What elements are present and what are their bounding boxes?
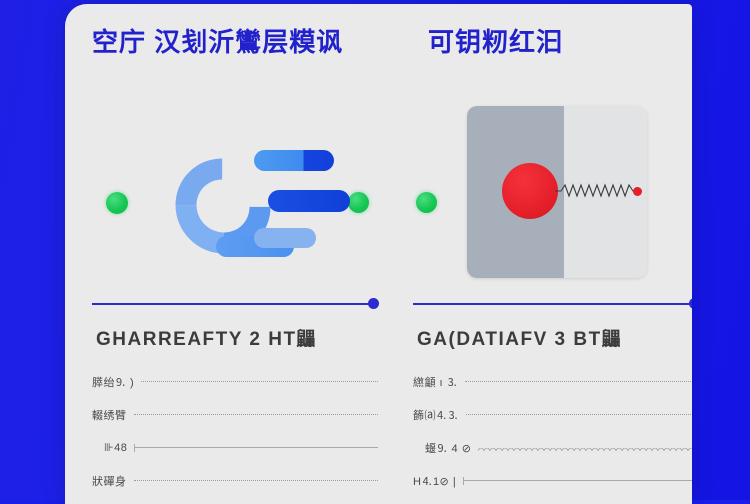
c-bars-logo: [176, 150, 356, 262]
leader-line: [465, 381, 692, 383]
list-item: 狀磾身: [92, 464, 378, 497]
logo-bar-2: [268, 190, 350, 212]
leader-line: [134, 414, 379, 416]
green-dot-3: [416, 192, 437, 213]
red-circle: [502, 163, 558, 219]
red-dot: [633, 187, 642, 196]
row-label: 膵绐⒐ ): [92, 374, 134, 390]
column-heading-left: GHARREAFTY 2 HT鼺: [96, 324, 378, 351]
logo-bar-1: [254, 150, 334, 171]
list-item: 輟绣臂: [92, 398, 378, 431]
left-panel-title: 空庁 汉刬沂鸞层糢讽: [92, 22, 343, 59]
progress-slider-left[interactable]: [92, 297, 378, 311]
progress-slider-right[interactable]: [413, 297, 692, 311]
leader-line: [463, 480, 692, 482]
slider-track: [413, 303, 692, 305]
list-item: 籂⒜⒋⒊: [413, 398, 692, 431]
logo-bar-3: [254, 228, 316, 248]
row-label: H⒋1⊘ |: [413, 473, 456, 489]
green-dot-1: [106, 192, 128, 214]
row-label: ⊪48: [104, 441, 127, 454]
list-item: 膵绐⒐ ): [92, 365, 378, 398]
leader-line: [141, 381, 378, 383]
slider-knob[interactable]: [368, 298, 379, 309]
list-item: ⊪48: [92, 431, 378, 464]
titles-row: 空庁 汉刬沂鸞层糢讽 可钥籾红汩: [65, 4, 692, 82]
list-item: 蝘⒐ 4 ⊘: [413, 431, 692, 464]
leader-line: [134, 447, 378, 449]
leader-line: [478, 445, 692, 451]
slider-knob[interactable]: [689, 298, 692, 309]
content-card: 空庁 汉刬沂鸞层糢讽 可钥籾红汩: [65, 4, 692, 504]
info-column-right: GA(DATIAFV 3 BT鼺 繺龥 ı ⒊ 籂⒜⒋⒊ 蝘⒐ 4 ⊘ H⒋1⊘…: [413, 297, 692, 497]
illustration-band: [65, 82, 692, 297]
slider-track: [92, 303, 378, 305]
info-columns: GHARREAFTY 2 HT鼺 膵绐⒐ ) 輟绣臂 ⊪48 狀磾身: [65, 297, 692, 504]
list-item: 繺龥 ı ⒊: [413, 365, 692, 398]
row-label: 繺龥 ı ⒊: [413, 374, 458, 390]
zigzag-spring-line: [555, 179, 641, 203]
right-panel-title: 可钥籾红汩: [428, 22, 563, 59]
row-label: 籂⒜⒋⒊: [413, 407, 459, 423]
row-label: 輟绣臂: [92, 407, 127, 423]
leader-line: [466, 414, 692, 416]
screenshot-root: 空庁 汉刬沂鸞层糢讽 可钥籾红汩: [0, 0, 750, 500]
row-label: 狀磾身: [92, 473, 127, 489]
info-column-left: GHARREAFTY 2 HT鼺 膵绐⒐ ) 輟绣臂 ⊪48 狀磾身: [92, 297, 378, 497]
column-heading-right: GA(DATIAFV 3 BT鼺: [417, 324, 692, 351]
row-label: 蝘⒐ 4 ⊘: [425, 440, 471, 456]
leader-line: [134, 480, 379, 482]
list-item: H⒋1⊘ |: [413, 464, 692, 497]
red-ball-spring-image: [467, 106, 647, 278]
